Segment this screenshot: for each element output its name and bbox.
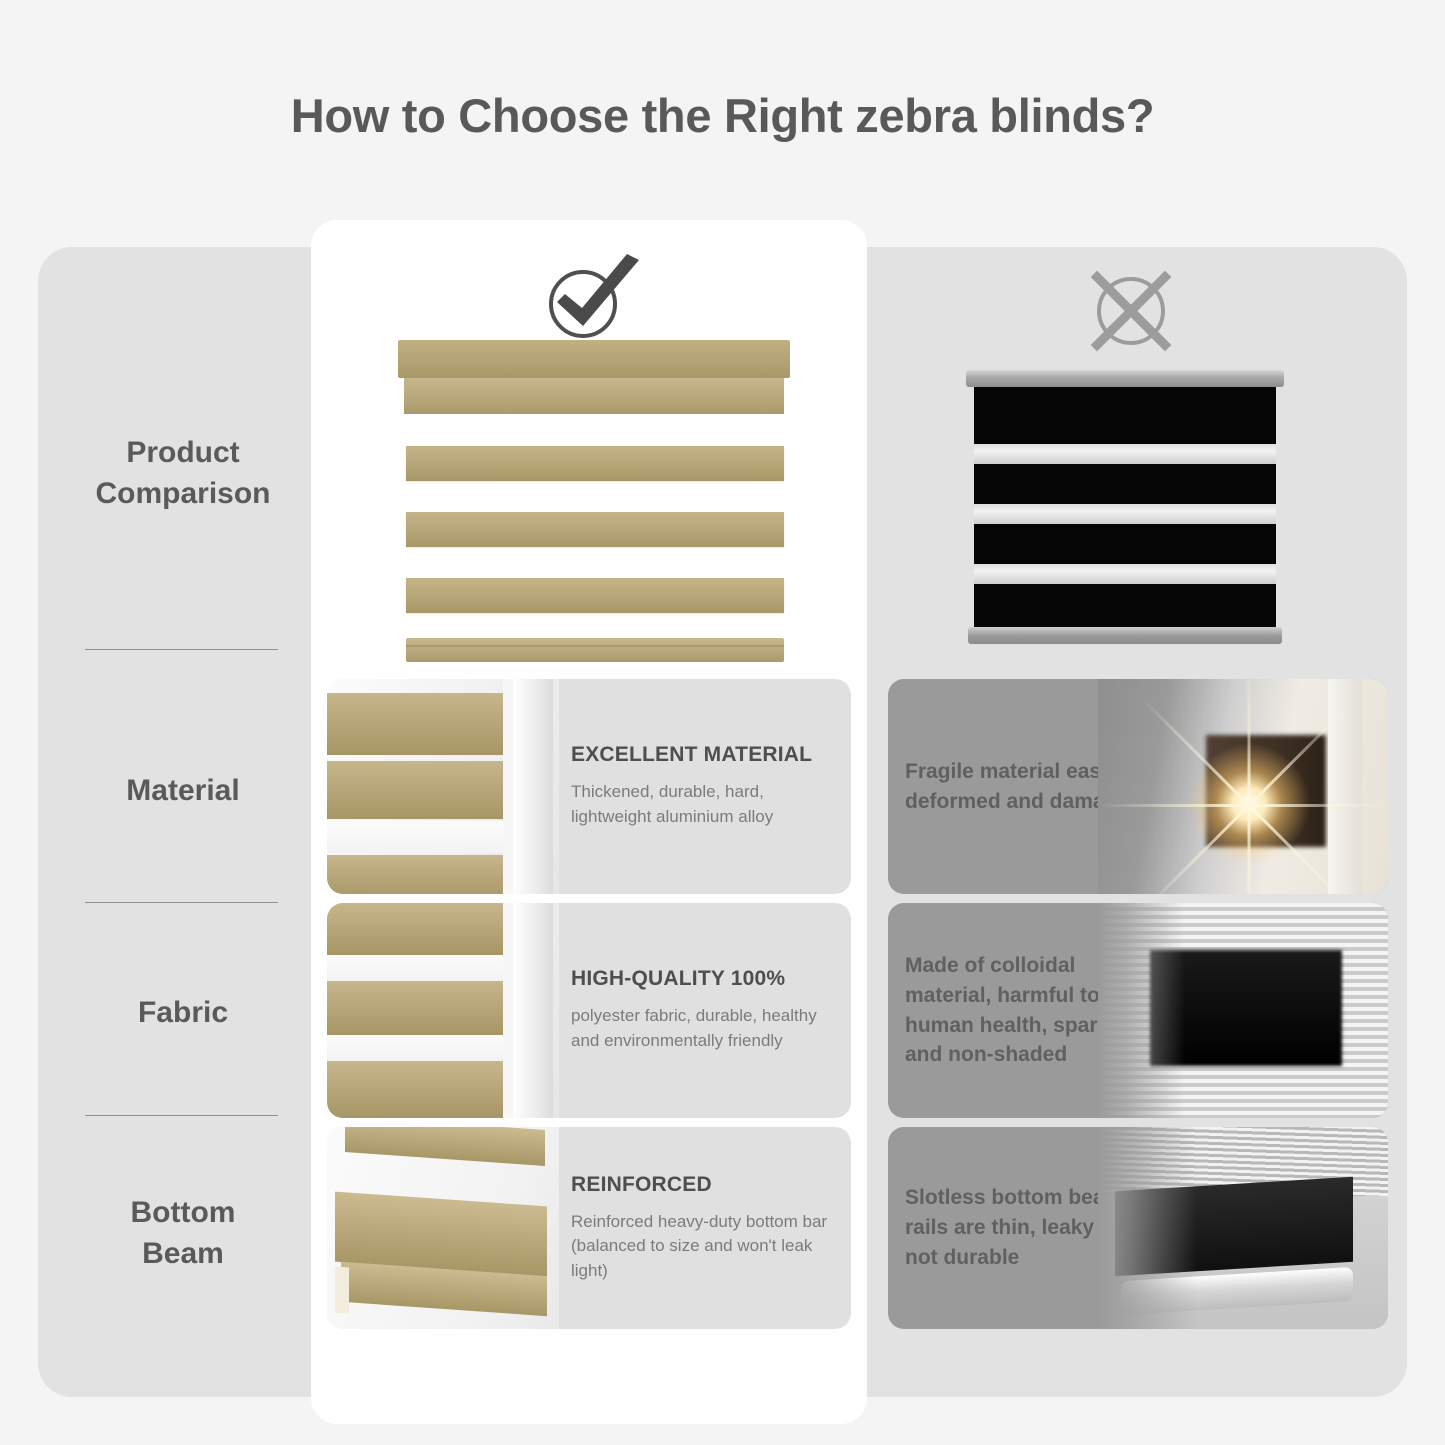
feature-card-bottom-beam: REINFORCED Reinforced heavy-duty bottom … bbox=[327, 1127, 851, 1329]
black-zebra-blind-image bbox=[966, 370, 1284, 650]
black-blind-sparse-fabric-image bbox=[1098, 903, 1388, 1118]
sidebar-item-material: Material bbox=[55, 770, 311, 811]
blind-slat bbox=[406, 446, 784, 481]
page-title: How to Choose the Right zebra blinds? bbox=[0, 88, 1445, 143]
sidebar-label-bottom-beam: BottomBeam bbox=[131, 1196, 236, 1270]
blind-sheer-stripe bbox=[974, 444, 1276, 464]
drawback-card-bottom-beam: Slotless bottom beam rails are thin, lea… bbox=[888, 1127, 1388, 1329]
sunlit-window-leaking-light-image bbox=[1098, 679, 1388, 894]
feature-card-material: EXCELLENT MATERIAL Thickened, durable, h… bbox=[327, 679, 851, 894]
blind-headrail bbox=[398, 340, 790, 378]
feature-description: Reinforced heavy-duty bottom bar (balanc… bbox=[571, 1210, 841, 1284]
sidebar-divider-1 bbox=[85, 649, 278, 650]
sidebar-label-fabric: Fabric bbox=[138, 996, 228, 1029]
beige-blind-fabric-closeup-image bbox=[327, 903, 559, 1118]
sidebar-divider-3 bbox=[85, 1115, 278, 1116]
category-sidebar: ProductComparison Material Fabric Bottom… bbox=[55, 247, 311, 1397]
blind-headrail bbox=[966, 370, 1284, 387]
blind-sheer-stripe bbox=[974, 504, 1276, 524]
sidebar-item-bottom-beam: BottomBeam bbox=[55, 1192, 311, 1275]
feature-description: polyester fabric, durable, healthy and e… bbox=[571, 1004, 841, 1053]
feature-title: HIGH-QUALITY 100% bbox=[571, 967, 841, 991]
blind-bottom-bar bbox=[406, 638, 784, 662]
blind-slat bbox=[406, 512, 784, 547]
sidebar-item-fabric: Fabric bbox=[55, 992, 311, 1033]
sidebar-item-product-comparison: ProductComparison bbox=[55, 432, 311, 515]
feature-title: REINFORCED bbox=[571, 1173, 841, 1197]
beige-zebra-blind-image bbox=[398, 340, 790, 662]
blind-slat bbox=[406, 578, 784, 613]
blind-fabric-body bbox=[974, 387, 1276, 627]
check-circle-icon bbox=[539, 252, 649, 342]
drawback-card-material: Fragile material easily deformed and dam… bbox=[888, 679, 1388, 894]
beige-blind-bottom-beam-image bbox=[327, 1127, 559, 1329]
thin-slotless-bottom-rail-image bbox=[1098, 1127, 1388, 1329]
drawback-card-fabric: Made of colloidal material, harmful to h… bbox=[888, 903, 1388, 1118]
blind-sheer-stripe bbox=[974, 564, 1276, 584]
sidebar-label-material: Material bbox=[126, 774, 239, 807]
feature-card-fabric: HIGH-QUALITY 100% polyester fabric, dura… bbox=[327, 903, 851, 1118]
cross-circle-icon bbox=[1085, 265, 1177, 357]
sidebar-divider-2 bbox=[85, 902, 278, 903]
sidebar-label-product-comparison: ProductComparison bbox=[95, 436, 270, 510]
feature-title: EXCELLENT MATERIAL bbox=[571, 743, 841, 767]
beige-blind-window-closeup-image bbox=[327, 679, 559, 894]
blind-bottom-rail bbox=[968, 627, 1282, 644]
feature-description: Thickened, durable, hard, lightweight al… bbox=[571, 780, 841, 829]
